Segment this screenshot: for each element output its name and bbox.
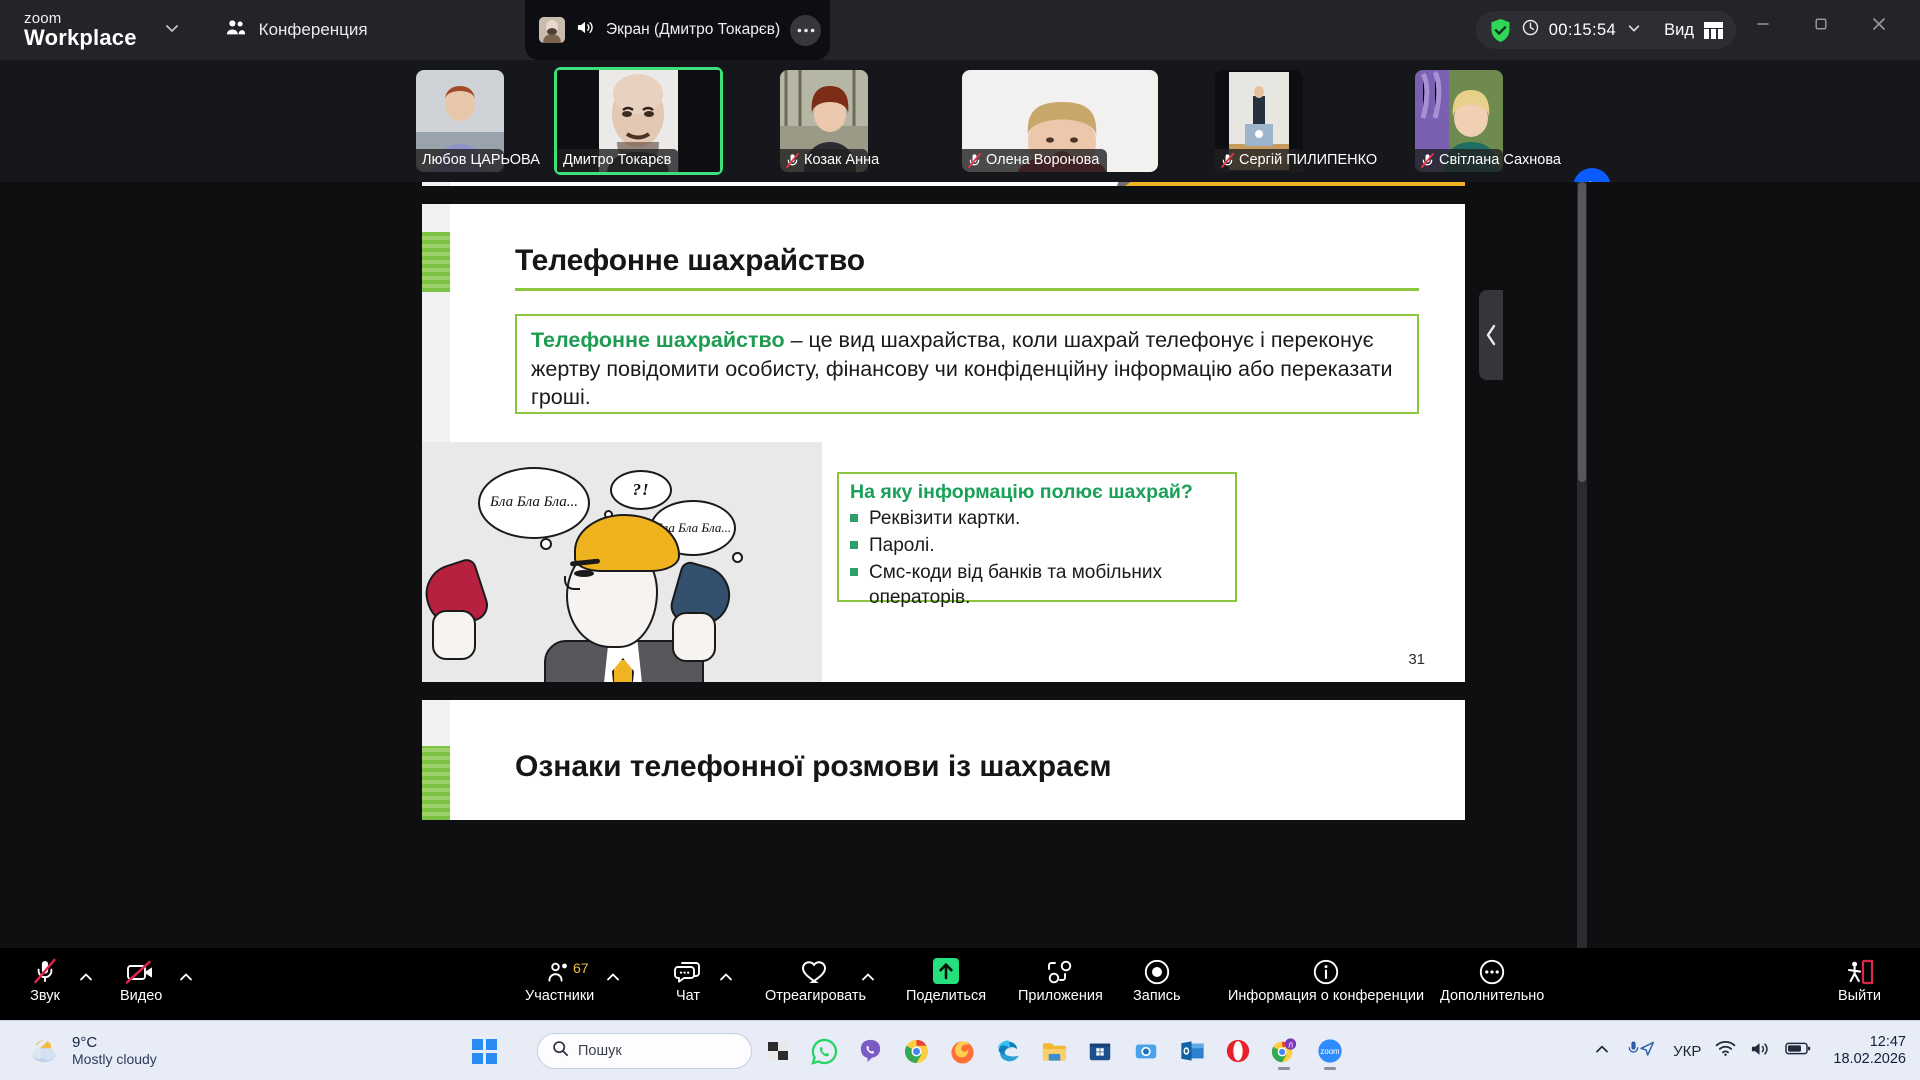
brand-line-workplace: Workplace <box>24 26 137 49</box>
taskbar-clock[interactable]: 12:47 18.02.2026 <box>1833 1034 1906 1069</box>
system-tray: УКР 12:47 18.02.2026 <box>1593 1021 1906 1080</box>
participants-count: 67 <box>573 960 589 976</box>
chat-label: Чат <box>676 989 700 1004</box>
taskbar-app-zoom-icon[interactable]: zoom <box>1310 1029 1350 1073</box>
meeting-tab-label: Конференция <box>259 20 368 40</box>
question-item-0: Реквізити картки. <box>869 506 1020 531</box>
zoom-meeting-toolbar: Звук Видео Участники 67 <box>0 948 1920 1020</box>
list-item: Смс-коди від банків та мобільних операто… <box>850 560 1224 610</box>
window-minimize-button[interactable] <box>1736 0 1790 48</box>
brand-chevron-down-icon[interactable] <box>163 19 181 42</box>
slide-current[interactable]: Телефонне шахрайство Телефонне шахрайств… <box>422 204 1465 682</box>
record-button[interactable]: Запись <box>1133 954 1181 1016</box>
slide-next-partial[interactable]: Ознаки телефонної розмови із шахраєм <box>422 700 1465 820</box>
chat-button[interactable]: Чат <box>673 954 703 1016</box>
participant-name-2: Козак Анна <box>804 152 879 168</box>
slide-title-rule <box>515 288 1419 291</box>
thumbnail-participant-3[interactable]: Олена Воронова <box>962 70 1158 172</box>
filmstrip-collapse-button[interactable] <box>1479 290 1503 380</box>
timer-chevron-down-icon[interactable] <box>1626 20 1642 41</box>
weather-text: 9°C Mostly cloudy <box>72 1034 157 1067</box>
svg-text:zoom: zoom <box>1320 1047 1339 1056</box>
slide-page-number: 31 <box>1408 651 1425 668</box>
question-item-1: Паролі. <box>869 533 935 558</box>
participant-name-5: Світлана Сахнова <box>1439 152 1561 168</box>
nameplate-0: Любов ЦАРЬОВА <box>416 149 504 172</box>
chat-options-chevron-up-icon[interactable] <box>718 970 734 988</box>
search-placeholder: Пошук <box>578 1043 622 1059</box>
weather-temperature: 9°C <box>72 1034 157 1051</box>
taskbar-app-firefox-icon[interactable] <box>942 1029 982 1073</box>
taskbar-app-whatsapp-icon[interactable] <box>804 1029 844 1073</box>
shared-screen-avatar <box>539 17 565 43</box>
apps-button[interactable]: Приложения <box>1018 954 1103 1016</box>
thumbnail-participant-0[interactable]: Любов ЦАРЬОВА <box>416 70 504 172</box>
tray-battery-icon[interactable] <box>1785 1041 1811 1061</box>
leave-door-icon <box>1842 954 1876 986</box>
question-heading: На яку інформацію полює шахрай? <box>850 481 1224 504</box>
bullet-square-icon <box>850 568 858 576</box>
zoom-title-bar: zoom Workplace Конференция <box>0 0 1920 60</box>
muted-mic-icon-4 <box>1221 153 1234 168</box>
list-item: Реквізити картки. <box>850 506 1224 531</box>
participant-name-3: Олена Воронова <box>986 152 1099 168</box>
react-button[interactable]: Отреагировать <box>765 954 866 1016</box>
view-layout-icon[interactable] <box>1704 22 1723 39</box>
slide2-green-accent <box>422 746 450 820</box>
meeting-info-label: Информация о конференции <box>1228 989 1424 1004</box>
meeting-info-button[interactable]: Информация о конференции <box>1228 954 1424 1016</box>
video-label: Видео <box>120 989 162 1004</box>
more-label: Дополнительно <box>1440 989 1544 1004</box>
taskbar-app-chrome-profile-icon[interactable]: Л <box>1264 1029 1304 1073</box>
nameplate-1: Дмитро Токарєв <box>557 149 679 172</box>
zoom-brand-logo: zoom Workplace <box>24 11 137 50</box>
speaker-icon <box>576 19 595 41</box>
taskbar-weather-widget[interactable]: 9°C Mostly cloudy <box>28 1034 157 1067</box>
slide0-leftbar <box>422 182 450 186</box>
taskbar-running-indicator <box>1324 1067 1336 1070</box>
tray-language-indicator[interactable]: УКР <box>1673 1043 1701 1060</box>
record-circle-icon <box>1143 954 1171 986</box>
participants-label: Участники <box>525 989 594 1004</box>
taskbar-app-edge-icon[interactable] <box>988 1029 1028 1073</box>
tray-volume-icon[interactable] <box>1750 1040 1771 1063</box>
leave-button[interactable]: Выйти <box>1838 954 1881 1016</box>
participants-options-chevron-up-icon[interactable] <box>605 970 621 988</box>
shared-screen-stage: Національний банк України Телефонне шахр… <box>0 182 1920 948</box>
participant-filmstrip: Любов ЦАРЬОВА Дмитро Токарєв <box>0 60 1920 182</box>
share-up-arrow-icon <box>931 954 961 986</box>
shared-screen-scrollbar[interactable] <box>1577 182 1587 948</box>
audio-button[interactable]: Звук <box>30 954 60 1016</box>
slide-question-box: На яку інформацію полює шахрай? Реквізит… <box>837 472 1237 602</box>
taskbar-app-outlook-icon[interactable] <box>1172 1029 1212 1073</box>
ellipsis-icon <box>1478 954 1506 986</box>
chat-bubble-icon <box>673 954 703 986</box>
meeting-timer: 00:15:54 <box>1549 21 1616 40</box>
slide-title: Телефонне шахрайство <box>515 244 865 278</box>
audio-options-chevron-up-icon[interactable] <box>78 970 94 988</box>
tray-wifi-icon[interactable] <box>1715 1040 1736 1062</box>
tray-overflow-chevron-up-icon[interactable] <box>1593 1042 1611 1061</box>
windows-taskbar: 9°C Mostly cloudy Пошук <box>0 1020 1920 1080</box>
question-item-2: Смс-коди від банків та мобільних операто… <box>869 560 1224 610</box>
windows-start-icon[interactable] <box>472 1039 497 1064</box>
apps-icon <box>1045 954 1075 986</box>
participant-name-4: Сергій ПИЛИПЕНКО <box>1239 152 1377 168</box>
thought-bubble: ?! <box>610 470 672 510</box>
nameplate-2: Козак Анна <box>780 149 868 172</box>
video-button[interactable]: Видео <box>120 954 162 1016</box>
clock-date: 18.02.2026 <box>1833 1051 1906 1068</box>
nameplate-4: Сергій ПИЛИПЕНКО <box>1215 149 1303 172</box>
taskbar-app-folder-icon[interactable] <box>1034 1029 1074 1073</box>
taskbar-app-opera-icon[interactable] <box>1218 1029 1258 1073</box>
slide-illustration: Бла Бла Бла... ?! Бла Бла Бла... <box>422 442 822 682</box>
clock-icon <box>1522 19 1539 41</box>
shared-screen-more-icon[interactable] <box>790 15 821 46</box>
record-label: Запись <box>1133 989 1181 1004</box>
taskbar-app-microsoft-store-icon[interactable] <box>1080 1029 1120 1073</box>
muted-mic-icon-2 <box>786 153 799 168</box>
question-list: Реквізити картки. Паролі. Смс-коди від б… <box>850 506 1224 610</box>
taskbar-app-file-explorer-dark-icon[interactable] <box>758 1029 798 1073</box>
slide1-green-accent <box>422 232 450 292</box>
taskbar-app-camera-icon[interactable] <box>1126 1029 1166 1073</box>
weather-partly-cloudy-icon <box>28 1038 62 1064</box>
audio-label: Звук <box>30 989 60 1004</box>
scrollbar-thumb[interactable] <box>1578 182 1586 482</box>
thumbnail-participant-4[interactable]: Сергій ПИЛИПЕНКО <box>1215 70 1303 172</box>
tray-microphone-location-icon[interactable] <box>1625 1038 1659 1065</box>
info-icon <box>1312 954 1340 986</box>
video-options-chevron-up-icon[interactable] <box>178 970 194 988</box>
heart-icon <box>800 954 831 986</box>
people-group-icon <box>225 18 247 43</box>
participant-name-0: Любов ЦАРЬОВА <box>422 152 540 168</box>
react-label: Отреагировать <box>765 989 866 1004</box>
weather-description: Mostly cloudy <box>72 1051 157 1067</box>
participant-name-1: Дмитро Токарєв <box>563 152 671 168</box>
microphone-muted-icon <box>30 954 60 986</box>
definition-term: Телефонне шахрайство <box>531 328 785 352</box>
slide-definition-box: Телефонне шахрайство – це вид шахрайства… <box>515 314 1419 414</box>
search-icon <box>552 1040 569 1062</box>
camera-muted-icon <box>124 954 158 986</box>
apps-label: Приложения <box>1018 989 1103 1004</box>
list-item: Паролі. <box>850 533 1224 558</box>
encryption-shield-icon[interactable] <box>1489 18 1512 43</box>
more-button[interactable]: Дополнительно <box>1440 954 1544 1016</box>
leave-label: Выйти <box>1838 989 1881 1004</box>
taskbar-running-indicator <box>1278 1067 1290 1070</box>
nameplate-5: Світлана Сахнова <box>1415 149 1503 172</box>
taskbar-app-chrome-icon[interactable] <box>896 1029 936 1073</box>
thumbnail-participant-5[interactable]: Світлана Сахнова <box>1415 70 1503 172</box>
speech-bubble-right-tail <box>732 552 743 563</box>
shared-screen-title: Экран (Дмитро Токарєв) <box>606 21 780 39</box>
react-options-chevron-up-icon[interactable] <box>860 970 876 988</box>
window-close-button[interactable] <box>1852 0 1906 48</box>
thumbnail-participant-2[interactable]: Козак Анна <box>780 70 868 172</box>
meeting-tab[interactable]: Конференция <box>225 18 368 43</box>
svg-text:Л: Л <box>1288 1040 1293 1049</box>
man-hand-left <box>432 610 476 660</box>
thumbnail-participant-1[interactable]: Дмитро Токарєв <box>557 70 720 172</box>
share-button[interactable]: Поделиться <box>906 954 986 1016</box>
bullet-square-icon <box>850 514 858 522</box>
share-label: Поделиться <box>906 989 986 1004</box>
slide0-yellow-shape <box>1125 182 1465 186</box>
view-button-label[interactable]: Вид <box>1664 21 1694 40</box>
taskbar-app-viber-icon[interactable] <box>850 1029 890 1073</box>
brand-line-zoom: zoom <box>24 11 137 27</box>
window-maximize-button[interactable] <box>1794 0 1848 48</box>
meeting-status-pill: 00:15:54 Вид <box>1476 11 1736 49</box>
nameplate-3: Олена Воронова <box>962 149 1107 172</box>
slide-previous-partial[interactable]: Національний банк України <box>422 182 1465 186</box>
bullet-square-icon <box>850 541 858 549</box>
taskbar-center-group: Пошук <box>472 1021 1350 1080</box>
clock-time: 12:47 <box>1833 1034 1906 1051</box>
taskbar-search-box[interactable]: Пошук <box>537 1033 752 1069</box>
muted-mic-icon-5 <box>1421 153 1434 168</box>
people-icon <box>546 954 574 986</box>
muted-mic-icon-3 <box>968 153 981 168</box>
man-hand-right <box>672 612 716 662</box>
slide-next-title: Ознаки телефонної розмови із шахраєм <box>515 750 1112 784</box>
shared-screen-tab[interactable]: Экран (Дмитро Токарєв) <box>525 0 830 60</box>
